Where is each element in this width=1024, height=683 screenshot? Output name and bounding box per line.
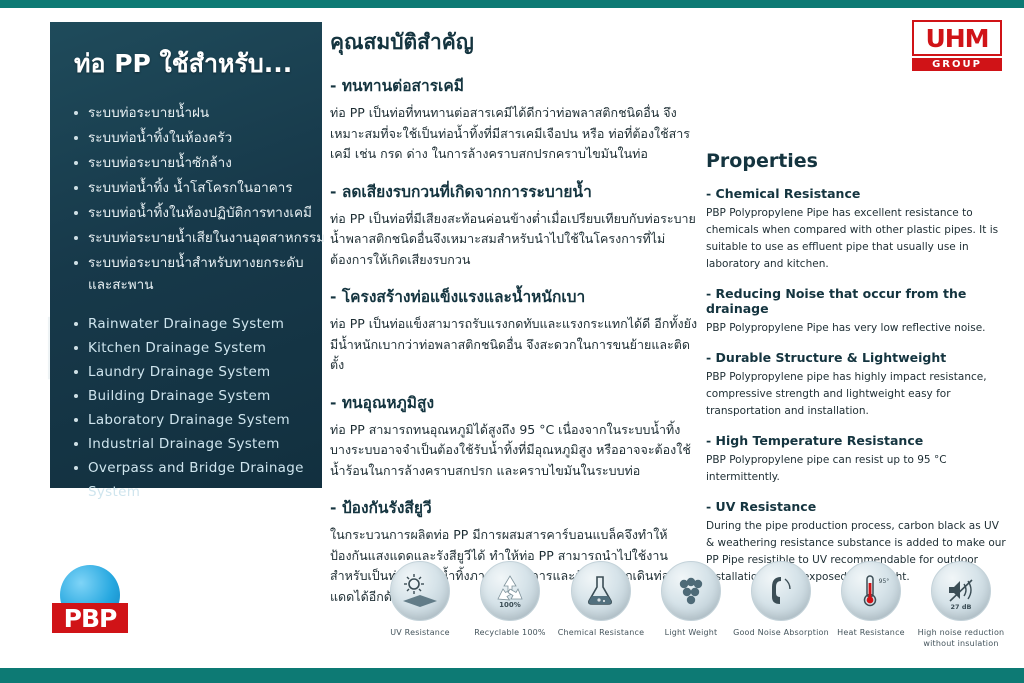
section-body: PBP Polypropylene Pipe has very low refl… (706, 320, 1006, 337)
list-item: Industrial Drainage System (72, 432, 304, 456)
uhm-logo-subtext: GROUP (912, 58, 1002, 71)
list-item: Building Drainage System (72, 384, 304, 408)
list-item: ระบบท่อน้ำทิ้ง น้ำโสโครกในอาคาร (72, 177, 304, 199)
icon-label: Good Noise Absorption (733, 627, 829, 638)
section-heading: - ลดเสียงรบกวนที่เกิดจากการระบายน้ำ (330, 179, 698, 204)
list-item: ระบบท่อระบายน้ำซักล้าง (72, 152, 304, 174)
section-heading: - ป้องกันรังสียูวี (330, 495, 698, 520)
feature-icon-noise-reduction: 27 dB High noise reduction without insul… (913, 561, 1009, 649)
uhm-logo-box: UHM (912, 20, 1002, 56)
thai-properties-column: คุณสมบัติสำคัญ - ทนทานต่อสารเคมี ท่อ PP … (330, 26, 698, 607)
section-body: ท่อ PP เป็นท่อแข็งสามารถรับแรงกดทับและแร… (330, 314, 698, 376)
feature-icon-light-weight: Light Weight (643, 561, 739, 638)
section-heading: - UV Resistance (706, 499, 1006, 514)
pbp-logo: PBP (52, 565, 128, 645)
noise-reduction-icon: 27 dB (931, 561, 991, 621)
icon-label: High noise reduction without insulation (913, 627, 1009, 649)
svg-text:27 dB: 27 dB (951, 603, 972, 611)
section-body: ท่อ PP เป็นท่อที่มีเสียงสะท้อนค่อนข้างต่… (330, 209, 698, 271)
list-item: ระบบท่อระบายน้ำฝน (72, 102, 304, 124)
applications-thai-list: ระบบท่อระบายน้ำฝน ระบบท่อน้ำทิ้งในห้องคร… (72, 102, 304, 296)
list-item: Laundry Drainage System (72, 360, 304, 384)
applications-panel: ท่อ PP ใช้สำหรับ... ระบบท่อระบายน้ำฝน ระ… (50, 22, 322, 488)
light-weight-icon (661, 561, 721, 621)
section-body: PBP Polypropylene pipe can resist up to … (706, 452, 1006, 486)
good-noise-absorption-icon (751, 561, 811, 621)
thai-properties-title: คุณสมบัติสำคัญ (330, 26, 698, 59)
section-heading: - High Temperature Resistance (706, 433, 1006, 448)
section-heading: - โครงสร้างท่อแข็งแรงและน้ำหนักเบา (330, 284, 698, 309)
english-properties-title: Properties (706, 150, 1006, 172)
feature-icon-uv-resistance: UV Resistance (372, 561, 468, 638)
icon-label: Recyclable 100% (462, 627, 558, 638)
uhm-group-logo: UHM GROUP (912, 20, 1002, 72)
section-body: ท่อ PP เป็นท่อที่ทนทานต่อสารเคมีได้ดีกว่… (330, 103, 698, 165)
pbp-logo-text: PBP (64, 604, 117, 633)
list-item: ระบบท่อน้ำทิ้งในห้องครัว (72, 127, 304, 149)
applications-english-list: Rainwater Drainage System Kitchen Draina… (72, 312, 304, 504)
list-item: ระบบท่อระบายน้ำสำหรับทางยกระดับ และสะพาน (72, 252, 304, 296)
section-body: PBP Polypropylene Pipe has excellent res… (706, 205, 1006, 273)
list-item: ระบบท่อระบายน้ำเสียในงานอุตสาหกรรม (72, 227, 304, 249)
section-heading: - Chemical Resistance (706, 186, 1006, 201)
feature-icon-heat-resistance: 95° Heat Resistance (823, 561, 919, 638)
uv-resistance-icon (390, 561, 450, 621)
icon-label: Light Weight (643, 627, 739, 638)
icon-label: Chemical Resistance (553, 627, 649, 638)
feature-icon-noise-absorption: Good Noise Absorption (733, 561, 829, 638)
list-item: ระบบท่อน้ำทิ้งในห้องปฏิบัติการทางเคมี (72, 202, 304, 224)
section-body: PBP Polypropylene pipe has highly impact… (706, 369, 1006, 420)
icon-label: UV Resistance (372, 627, 468, 638)
brochure-page: PBP ท่อ PP ใช้สำหรับ... ระบบท่อระบายน้ำฝ… (0, 0, 1024, 683)
list-item: Laboratory Drainage System (72, 408, 304, 432)
english-properties-column: Properties - Chemical Resistance PBP Pol… (706, 150, 1006, 586)
feature-icon-strip: UV Resistance 100% Recyclable 100% (372, 561, 1002, 661)
top-teal-bar (0, 0, 1024, 8)
list-item: Kitchen Drainage System (72, 336, 304, 360)
uhm-logo-text: UHM (925, 26, 988, 51)
section-heading: - ทนทานต่อสารเคมี (330, 73, 698, 98)
svg-text:100%: 100% (499, 601, 521, 609)
feature-icon-chemical-resistance: Chemical Resistance (553, 561, 649, 638)
section-heading: - ทนอุณหภูมิสูง (330, 390, 698, 415)
section-body: ท่อ PP สามารถทนอุณหภูมิได้สูงถึง 95 °C เ… (330, 420, 698, 482)
feature-icon-recyclable: 100% Recyclable 100% (462, 561, 558, 638)
recyclable-icon: 100% (480, 561, 540, 621)
list-item: Overpass and Bridge Drainage System (72, 456, 304, 504)
section-heading: - Durable Structure & Lightweight (706, 350, 1006, 365)
svg-text:95°: 95° (879, 578, 890, 585)
heat-resistance-icon: 95° (841, 561, 901, 621)
icon-label: Heat Resistance (823, 627, 919, 638)
pbp-logo-bar: PBP (52, 603, 128, 633)
section-heading: - Reducing Noise that occur from the dra… (706, 286, 1006, 316)
applications-title: ท่อ PP ใช้สำหรับ... (74, 44, 304, 84)
list-item: Rainwater Drainage System (72, 312, 304, 336)
chemical-resistance-icon (571, 561, 631, 621)
bottom-teal-bar (0, 668, 1024, 683)
